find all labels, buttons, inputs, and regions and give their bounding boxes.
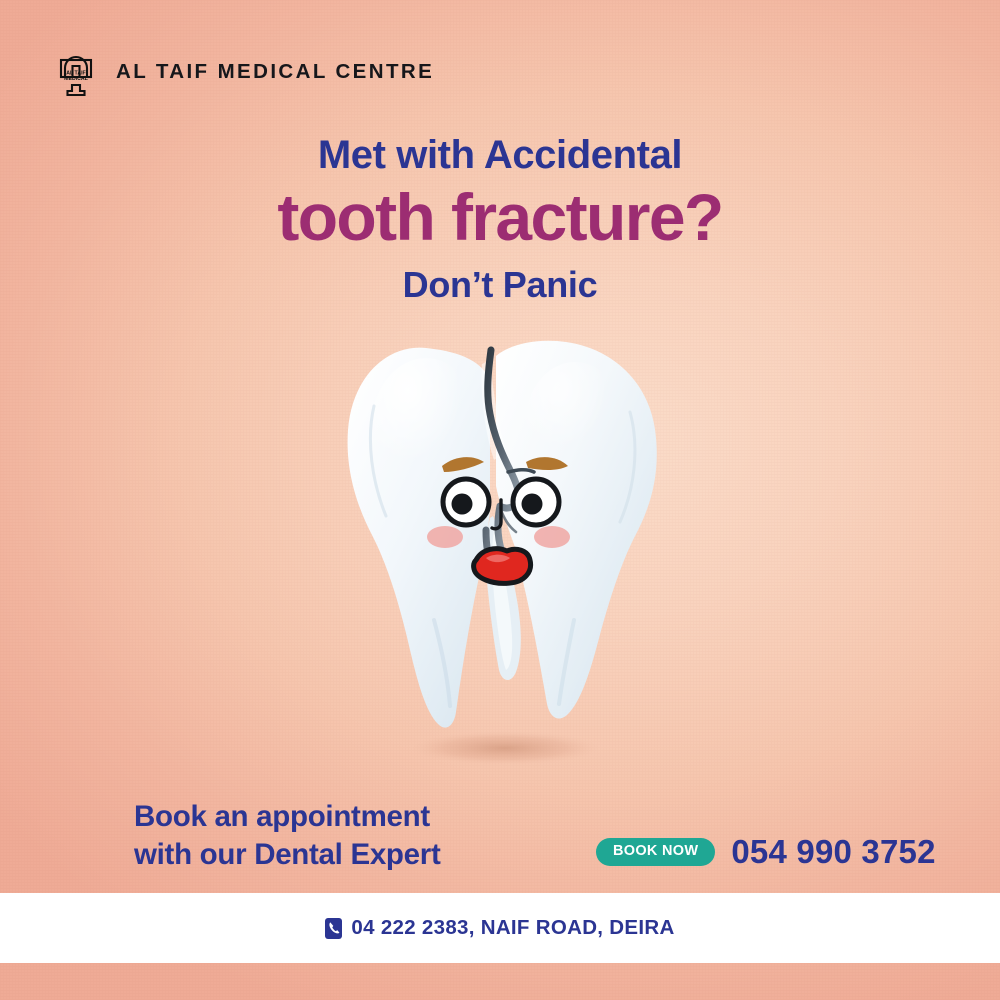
cracked-tooth-illustration (330, 320, 675, 780)
poster-canvas: AL TAIF MEDICAL AL TAIF MEDICAL CENTRE M… (0, 0, 1000, 1000)
cta-line-2: with our Dental Expert (134, 836, 440, 874)
headline-line-1: Met with Accidental (0, 134, 1000, 177)
brand-name-text: AL TAIF MEDICAL CENTRE (116, 60, 434, 84)
telephone-icon (325, 918, 342, 939)
cta-heading: Book an appointment with our Dental Expe… (134, 798, 440, 874)
headline-line-2: tooth fracture? (0, 181, 1000, 255)
headline-block: Met with Accidental tooth fracture? Don’… (0, 134, 1000, 305)
footer-contact-text: 04 222 2383, NAIF ROAD, DEIRA (351, 916, 674, 940)
cta-action-group: BOOK NOW 054 990 3752 (596, 833, 936, 871)
brand-logo[interactable]: AL TAIF MEDICAL AL TAIF MEDICAL CENTRE (40, 44, 434, 100)
mobile-number[interactable]: 054 990 3752 (731, 833, 935, 871)
footer-contact-bar: 04 222 2383, NAIF ROAD, DEIRA (0, 893, 1000, 963)
book-now-button[interactable]: BOOK NOW (596, 838, 715, 866)
svg-text:MEDICAL: MEDICAL (64, 76, 88, 82)
headline-line-3: Don’t Panic (0, 265, 1000, 305)
cta-line-1: Book an appointment (134, 798, 440, 836)
crescent-arch-logo-icon: AL TAIF MEDICAL (40, 44, 102, 100)
